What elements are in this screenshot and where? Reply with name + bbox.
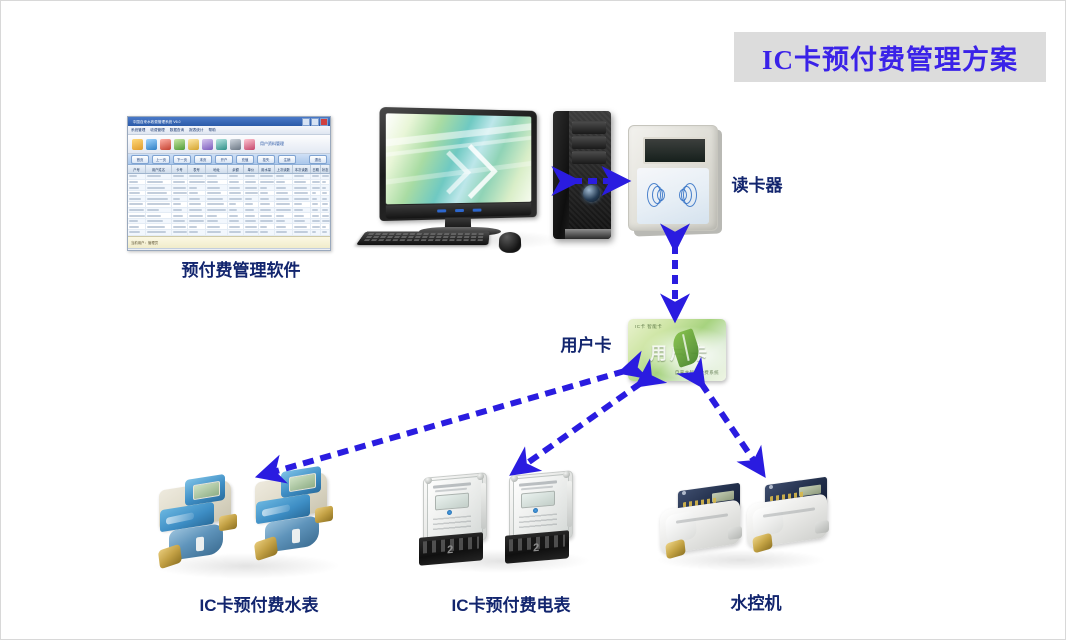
table-cell[interactable] <box>228 208 244 213</box>
column-header-1[interactable]: 用户姓名 <box>146 165 172 173</box>
table-cell[interactable] <box>206 191 228 196</box>
table-cell[interactable] <box>244 213 258 218</box>
sub-button-5[interactable]: 充值 <box>236 155 254 164</box>
table-cell[interactable] <box>172 213 188 218</box>
column-header-7[interactable]: 用水量 <box>259 165 275 173</box>
new-record-icon[interactable] <box>132 139 143 150</box>
monitor <box>380 107 537 221</box>
water-meter-brass-fitting-right <box>219 513 237 531</box>
table-cell[interactable] <box>206 185 228 190</box>
caption-ic-card-prepaid-electric-meter: IC卡预付费电表 <box>421 591 601 616</box>
column-header-9[interactable]: 本次读数 <box>293 165 311 173</box>
water-controller-outlet-port <box>728 526 742 540</box>
drive-bay-3 <box>572 151 606 164</box>
table-cell[interactable] <box>172 208 188 213</box>
toolbar-note: 用户资料管理 <box>260 141 284 147</box>
table-cell[interactable] <box>206 230 228 235</box>
column-header-8[interactable]: 上次读数 <box>275 165 293 173</box>
footer-date: 2016-08-12 <box>310 251 327 252</box>
table-cell[interactable] <box>259 174 275 179</box>
table-cell[interactable] <box>311 202 322 207</box>
caption-card-reader: 读卡器 <box>717 171 797 196</box>
menu-item-4[interactable]: 帮助 <box>209 128 216 133</box>
table-cell[interactable] <box>188 174 206 179</box>
menu-item-1[interactable]: 收费管理 <box>150 128 164 133</box>
table-cell[interactable] <box>311 230 322 235</box>
table-cell[interactable] <box>275 196 293 201</box>
table-cell[interactable] <box>244 185 258 190</box>
table-cell[interactable] <box>293 230 311 235</box>
card-top-text: IC卡 智能卡 <box>635 324 662 330</box>
water-meter-label-sticker <box>292 528 300 543</box>
table-cell[interactable] <box>259 191 275 196</box>
column-header-0[interactable]: 户号 <box>128 165 146 173</box>
table-cell[interactable] <box>311 208 322 213</box>
table-cell[interactable] <box>146 224 172 229</box>
table-cell[interactable] <box>244 191 258 196</box>
status-text: 当前用户：管理员 <box>131 240 158 245</box>
minimize-icon[interactable] <box>302 118 310 126</box>
close-icon[interactable] <box>320 118 328 126</box>
table-cell[interactable] <box>275 208 293 213</box>
caption-prepaid-management-software: 预付费管理软件 <box>151 256 331 281</box>
table-cell[interactable] <box>275 185 293 190</box>
table-cell[interactable] <box>321 230 330 235</box>
column-header-3[interactable]: 表号 <box>188 165 206 173</box>
table-cell[interactable] <box>311 185 322 190</box>
table-cell[interactable] <box>128 219 146 224</box>
sub-button-2[interactable]: 下一页 <box>173 155 191 164</box>
table-cell[interactable] <box>311 224 322 229</box>
table-cell[interactable] <box>293 224 311 229</box>
table-cell[interactable] <box>321 191 330 196</box>
column-header-10[interactable]: 日期 <box>311 165 322 173</box>
table-cell[interactable] <box>244 196 258 201</box>
delete-record-icon[interactable] <box>160 139 171 150</box>
column-header-6[interactable]: 单价 <box>244 165 258 173</box>
card-bottom-text: 自来水智能收费系统 <box>675 370 719 376</box>
menu-item-3[interactable]: 报表统计 <box>189 128 203 133</box>
column-header-2[interactable]: 卡号 <box>172 165 188 173</box>
table-cell[interactable] <box>275 213 293 218</box>
table-cell[interactable] <box>275 174 293 179</box>
table-cell[interactable] <box>244 174 258 179</box>
monitor-led-1 <box>437 209 446 212</box>
table-cell[interactable] <box>188 224 206 229</box>
table-cell[interactable] <box>128 174 146 179</box>
monitor-bezel-bottom <box>386 203 531 219</box>
table-cell[interactable] <box>275 219 293 224</box>
table-cell[interactable] <box>188 208 206 213</box>
table-cell[interactable] <box>228 196 244 201</box>
keyboard-row-2 <box>366 236 484 238</box>
table-cell[interactable] <box>206 180 228 185</box>
arrow-card-to-electric-meter <box>516 383 641 471</box>
table-cell[interactable] <box>172 185 188 190</box>
card-reader-device <box>626 121 726 241</box>
table-cell[interactable] <box>321 224 330 229</box>
table-cell[interactable] <box>172 230 188 235</box>
table-cell[interactable] <box>311 219 322 224</box>
table-cell[interactable] <box>146 185 172 190</box>
card-reader-body <box>628 125 718 231</box>
table-cell[interactable] <box>321 185 330 190</box>
software-window-title: 中国自来水收费管理系统 V6.0 <box>133 119 181 124</box>
table-cell[interactable] <box>228 180 244 185</box>
table-cell[interactable] <box>311 180 322 185</box>
table-cell[interactable] <box>128 196 146 201</box>
water-meter-label-sticker <box>196 536 204 551</box>
table-cell[interactable] <box>146 230 172 235</box>
water-meter-device-1 <box>153 471 245 575</box>
return-card-icon[interactable] <box>216 139 227 150</box>
title-text: IC卡预付费管理方案 <box>762 38 1018 77</box>
table-cell[interactable] <box>259 213 275 218</box>
table-cell[interactable] <box>128 208 146 213</box>
table-cell[interactable] <box>244 202 258 207</box>
table-cell[interactable] <box>244 219 258 224</box>
table-cell[interactable] <box>206 202 228 207</box>
table-cell[interactable] <box>275 224 293 229</box>
table-cell[interactable] <box>275 202 293 207</box>
water-meter-brass-fitting-left <box>158 544 182 570</box>
table-cell[interactable] <box>293 174 311 179</box>
software-sub-toolbar[interactable]: 首页 上一页 下一页 末页 开户 充值 挂失 注销 退出 <box>128 154 330 165</box>
table-cell[interactable] <box>206 174 228 179</box>
table-cell[interactable] <box>188 213 206 218</box>
search-icon[interactable] <box>174 139 185 150</box>
water-controller-device-2 <box>743 477 839 563</box>
table-grid[interactable] <box>128 174 330 236</box>
table-cell[interactable] <box>228 219 244 224</box>
footer-ready-text: 就绪 <box>292 250 299 251</box>
arrow-card-to-water-controller <box>701 383 761 471</box>
pc-tower <box>553 111 611 239</box>
drive-bay-2 <box>572 136 606 149</box>
prepaid-management-software-window[interactable]: 中国自来水收费管理系统 V6.0 系统管理 收费管理 数据查询 报表统计 帮助 <box>127 116 331 251</box>
table-column-header[interactable]: 户号 用户姓名 卡号 表号 地址 余额 单价 用水量 上次读数 本次读数 日期 … <box>128 165 330 174</box>
menu-item-2[interactable]: 数据查询 <box>170 128 184 133</box>
sub-button-1[interactable]: 上一页 <box>152 155 170 164</box>
table-cell[interactable] <box>244 224 258 229</box>
caption-user-card: 用户卡 <box>553 331 619 356</box>
sub-button-6[interactable]: 挂失 <box>257 155 275 164</box>
monitor-led-3 <box>473 209 482 212</box>
caption-ic-card-prepaid-water-meter: IC卡预付费水表 <box>169 591 349 616</box>
table-cell[interactable] <box>293 180 311 185</box>
electric-meter-device-2: 2 <box>501 469 585 567</box>
table-cell[interactable] <box>146 202 172 207</box>
electric-meter-terminal-number: 2 <box>447 544 453 557</box>
table-cell[interactable] <box>228 202 244 207</box>
sub-button-3[interactable]: 末页 <box>194 155 212 164</box>
sub-button-7[interactable]: 注销 <box>278 155 296 164</box>
monitor-led-2 <box>455 209 464 212</box>
table-cell[interactable] <box>128 180 146 185</box>
table-cell[interactable] <box>146 174 172 179</box>
table-cell[interactable] <box>206 208 228 213</box>
table-cell[interactable] <box>172 219 188 224</box>
table-cell[interactable] <box>244 230 258 235</box>
column-header-4[interactable]: 地址 <box>206 165 228 173</box>
table-cell[interactable] <box>172 196 188 201</box>
user-info-icon[interactable] <box>244 139 255 150</box>
table-cell[interactable] <box>228 230 244 235</box>
replace-card-icon[interactable] <box>202 139 213 150</box>
table-cell[interactable] <box>146 180 172 185</box>
electric-meter-lcd <box>521 491 555 509</box>
mouse[interactable] <box>499 232 522 253</box>
table-cell[interactable] <box>188 191 206 196</box>
electric-meter-device-1: 2 <box>415 471 499 569</box>
table-cell[interactable] <box>172 174 188 179</box>
caption-water-controller: 水控机 <box>711 589 801 614</box>
water-controller-device-1 <box>656 483 752 569</box>
table-cell[interactable] <box>172 202 188 207</box>
table-cell[interactable] <box>259 185 275 190</box>
table-cell[interactable] <box>259 180 275 185</box>
drive-bay-1 <box>572 121 606 134</box>
column-header-11[interactable]: 状态 <box>321 165 330 173</box>
table-cell[interactable] <box>311 196 322 201</box>
title-banner: IC卡预付费管理方案 <box>734 32 1046 82</box>
water-controller-outlet-port <box>815 520 829 534</box>
edit-record-icon[interactable] <box>146 139 157 150</box>
software-titlebar: 中国自来水收费管理系统 V6.0 <box>128 117 330 126</box>
table-cell[interactable] <box>172 191 188 196</box>
electric-meter-lcd <box>435 493 469 511</box>
power-button-icon[interactable] <box>583 185 600 202</box>
water-meter-brass-fitting-right <box>315 505 333 523</box>
table-cell[interactable] <box>188 185 206 190</box>
pc-tower-base <box>565 229 611 239</box>
print-icon[interactable] <box>230 139 241 150</box>
electric-meter-terminal-number: 2 <box>533 542 539 555</box>
card-reader-touch-panel[interactable] <box>637 168 709 224</box>
table-cell[interactable] <box>128 213 146 218</box>
table-cell[interactable] <box>259 219 275 224</box>
table-cell[interactable] <box>188 219 206 224</box>
table-cell[interactable] <box>172 180 188 185</box>
sub-button-4[interactable]: 开户 <box>215 155 233 164</box>
table-cell[interactable] <box>206 213 228 218</box>
keyboard[interactable] <box>356 231 490 245</box>
table-cell[interactable] <box>293 219 311 224</box>
table-cell[interactable] <box>228 185 244 190</box>
software-footer: 记录数：128 就绪 2016-08-12 <box>128 248 330 251</box>
exit-button[interactable]: 退出 <box>309 155 327 164</box>
table-cell[interactable] <box>293 191 311 196</box>
software-status-bar: 当前用户：管理员 <box>128 236 330 248</box>
electric-meter-terminal-block: 2 <box>419 532 483 566</box>
table-cell[interactable] <box>146 196 172 201</box>
table-cell[interactable] <box>321 174 330 179</box>
table-cell[interactable] <box>259 196 275 201</box>
rfid-wave-icon <box>637 182 709 206</box>
table-cell[interactable] <box>244 208 258 213</box>
table-cell[interactable] <box>128 202 146 207</box>
table-cell[interactable] <box>311 191 322 196</box>
electric-meter-terminal-block: 2 <box>505 530 569 564</box>
table-cell[interactable] <box>311 213 322 218</box>
column-header-5[interactable]: 余额 <box>228 165 244 173</box>
table-cell[interactable] <box>259 208 275 213</box>
sell-water-icon[interactable] <box>188 139 199 150</box>
monitor-screen <box>386 113 531 204</box>
user-ic-card[interactable]: IC卡 智能卡 用户卡 自来水智能收费系统 <box>628 319 726 381</box>
water-meter-brass-fitting-left <box>254 536 278 562</box>
software-menubar[interactable]: 系统管理 收费管理 数据查询 报表统计 帮助 <box>128 126 330 135</box>
table-cell[interactable] <box>206 224 228 229</box>
table-cell[interactable] <box>128 224 146 229</box>
table-cell[interactable] <box>259 230 275 235</box>
table-cell[interactable] <box>228 174 244 179</box>
electric-meter-side-strip <box>567 481 572 527</box>
keyboard-row-1 <box>368 233 484 235</box>
table-cell[interactable] <box>259 224 275 229</box>
table-cell[interactable] <box>275 230 293 235</box>
maximize-icon[interactable] <box>311 118 319 126</box>
window-control-buttons[interactable] <box>302 118 328 126</box>
arrow-card-to-water-meter <box>263 371 625 475</box>
table-cell[interactable] <box>293 202 311 207</box>
menu-item-0[interactable]: 系统管理 <box>131 128 145 133</box>
table-cell[interactable] <box>321 180 330 185</box>
table-cell[interactable] <box>321 202 330 207</box>
table-cell[interactable] <box>128 185 146 190</box>
table-cell[interactable] <box>293 213 311 218</box>
table-cell[interactable] <box>311 174 322 179</box>
table-cell[interactable] <box>293 196 311 201</box>
table-cell[interactable] <box>321 213 330 218</box>
table-cell[interactable] <box>228 224 244 229</box>
sub-button-0[interactable]: 首页 <box>131 155 149 164</box>
table-cell[interactable] <box>321 208 330 213</box>
table-cell[interactable] <box>228 191 244 196</box>
table-cell[interactable] <box>259 202 275 207</box>
table-cell[interactable] <box>146 219 172 224</box>
table-cell[interactable] <box>188 202 206 207</box>
electric-meter-side-strip <box>481 483 486 529</box>
footer-record-count: 记录数：128 <box>131 250 150 251</box>
keyboard-row-3 <box>364 239 484 241</box>
table-cell[interactable] <box>228 213 244 218</box>
table-cell[interactable] <box>188 180 206 185</box>
diagram-canvas: IC卡预付费管理方案 中国自来水收费管理系统 V6.0 系统管理 收费管理 数据… <box>0 0 1066 640</box>
table-cell[interactable] <box>128 191 146 196</box>
table-cell[interactable] <box>244 180 258 185</box>
desktop-computer <box>353 105 588 255</box>
table-cell[interactable] <box>188 230 206 235</box>
table-cell[interactable] <box>293 208 311 213</box>
software-toolbar[interactable]: 用户资料管理 <box>128 135 330 154</box>
table-cell[interactable] <box>321 219 330 224</box>
table-cell[interactable] <box>146 213 172 218</box>
card-reader-lcd-screen <box>643 137 707 164</box>
table-cell[interactable] <box>206 196 228 201</box>
table-cell[interactable] <box>321 196 330 201</box>
table-cell[interactable] <box>293 185 311 190</box>
table-cell[interactable] <box>146 191 172 196</box>
table-cell[interactable] <box>146 208 172 213</box>
table-cell[interactable] <box>206 219 228 224</box>
table-cell[interactable] <box>128 230 146 235</box>
table-cell[interactable] <box>172 224 188 229</box>
table-cell[interactable] <box>188 196 206 201</box>
water-meter-device-2 <box>249 463 341 567</box>
table-cell[interactable] <box>275 191 293 196</box>
table-cell[interactable] <box>275 180 293 185</box>
